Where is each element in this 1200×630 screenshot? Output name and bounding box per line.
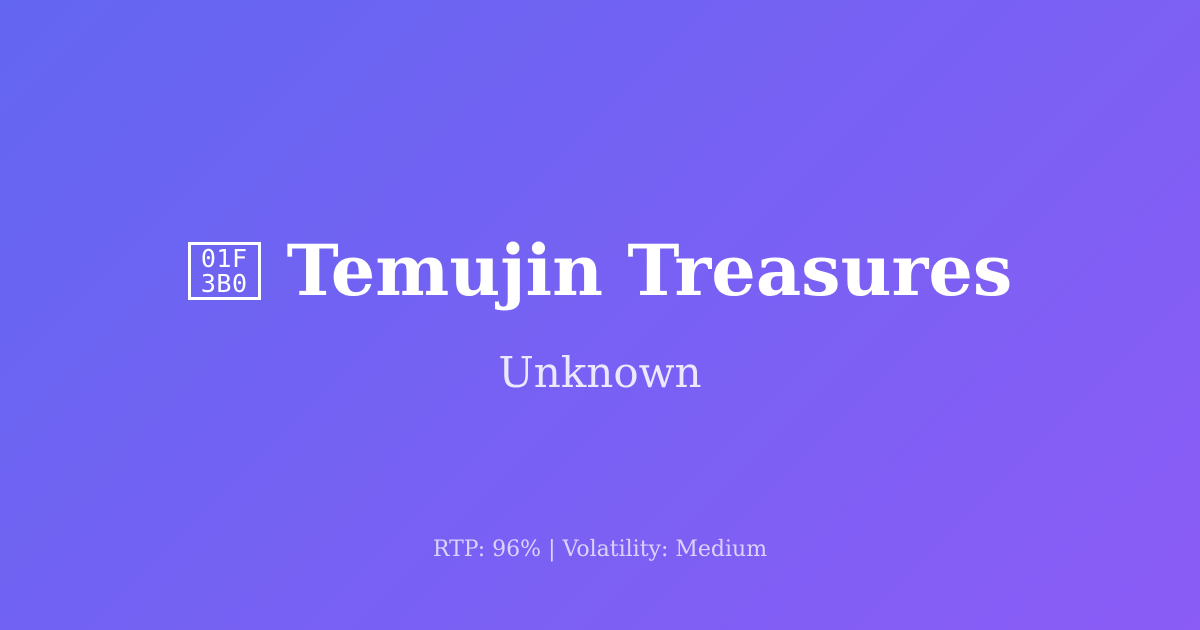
slot-machine-icon: 01F 3B0 (188, 242, 261, 300)
title-row: 01F 3B0 Temujin Treasures (148, 234, 1053, 308)
game-provider: Unknown (498, 350, 701, 396)
game-meta-line: RTP: 96% | Volatility: Medium (0, 537, 1200, 563)
tofu-codepoint-top: 01F (201, 246, 248, 271)
tofu-codepoint-bottom: 3B0 (201, 271, 248, 296)
game-title: Temujin Treasures (287, 234, 1013, 308)
game-preview-card: 01F 3B0 Temujin Treasures Unknown RTP: 9… (0, 0, 1200, 630)
